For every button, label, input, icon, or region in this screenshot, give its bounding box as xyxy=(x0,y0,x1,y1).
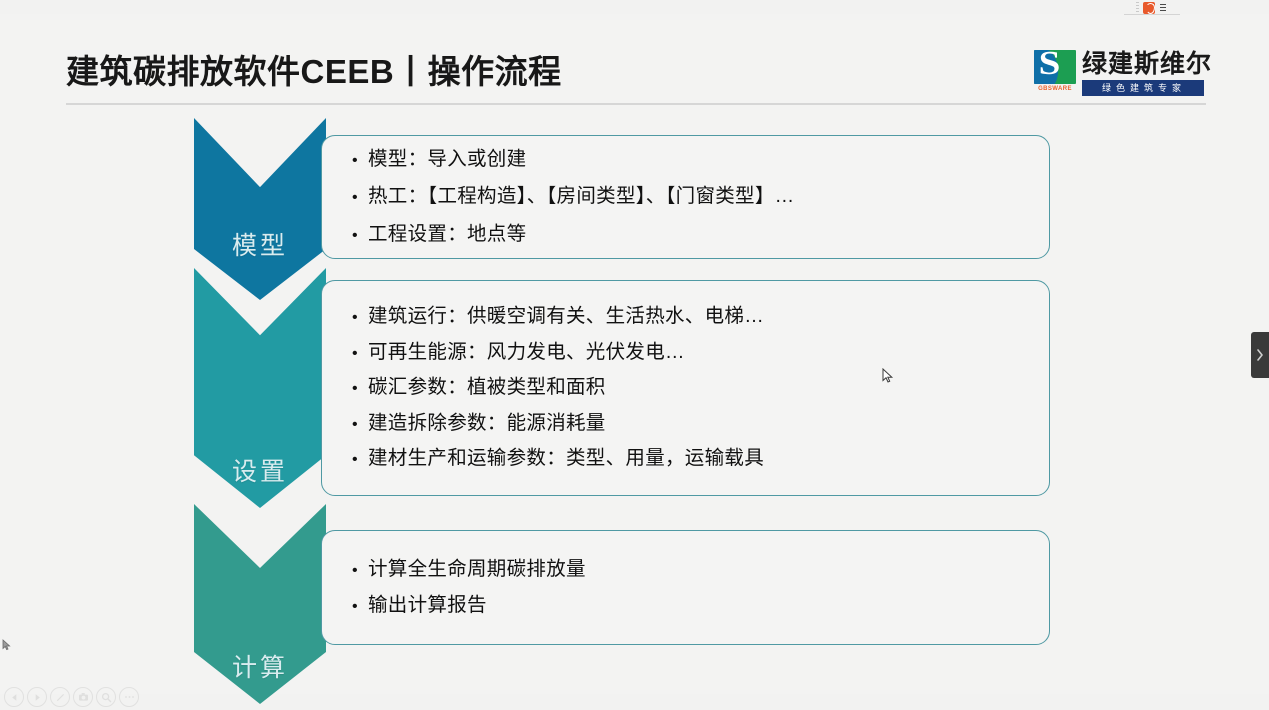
pen-annotate-button[interactable] xyxy=(50,687,70,707)
pen-icon xyxy=(55,692,66,703)
bullet-icon: • xyxy=(352,228,368,244)
secondary-pointer-artifact xyxy=(2,638,12,650)
bullet-icon: • xyxy=(352,381,368,397)
play-button[interactable] xyxy=(27,687,47,707)
flow-step-panel-model: • 模型：导入或创建 • 热工：【工程构造】、【房间类型】、【门窗类型】… • … xyxy=(321,135,1050,259)
triangle-right-icon xyxy=(33,693,42,702)
flow-step-panel-settings: • 建筑运行：供暖空调有关、生活热水、电梯… • 可再生能源：风力发电、光伏发电… xyxy=(321,280,1050,496)
zoom-button[interactable] xyxy=(96,687,116,707)
bullet-icon: • xyxy=(352,599,368,615)
presentation-window: 建筑碳排放软件CEEB丨操作流程 GBSWARE 绿建斯维尔 绿色建筑专家 模型 xyxy=(0,0,1269,710)
list-item-text: 建材生产和运输参数：类型、用量，运输载具 xyxy=(368,449,1023,469)
list-item: • 工程设置：地点等 xyxy=(352,225,1023,245)
list-item-text: 建筑运行：供暖空调有关、生活热水、电梯… xyxy=(368,307,1023,327)
list-item: • 计算全生命周期碳排放量 xyxy=(352,560,1023,580)
flow-step-chevron-calculate: 计算 xyxy=(194,504,326,704)
camera-button[interactable] xyxy=(73,687,93,707)
drag-grip-icon[interactable] xyxy=(1136,2,1139,13)
kebab-menu-icon[interactable] xyxy=(1159,2,1167,14)
bullet-icon: • xyxy=(352,563,368,579)
process-flow-diagram: 模型 • 模型：导入或创建 • 热工：【工程构造】、【房间类型】、【门窗类型】…… xyxy=(0,14,1269,694)
list-item-text: 工程设置：地点等 xyxy=(368,225,1023,245)
screen-recorder-icon[interactable] xyxy=(1143,2,1155,14)
slide-canvas: 建筑碳排放软件CEEB丨操作流程 GBSWARE 绿建斯维尔 绿色建筑专家 模型 xyxy=(0,14,1269,694)
flow-step-chevron-settings: 设置 xyxy=(194,268,326,508)
list-item-text: 碳汇参数：植被类型和面积 xyxy=(368,378,1023,398)
list-item: • 建造拆除参数：能源消耗量 xyxy=(352,414,1023,434)
list-item: • 热工：【工程构造】、【房间类型】、【门窗类型】… xyxy=(352,187,1023,207)
bullet-icon: • xyxy=(352,310,368,326)
bullet-icon: • xyxy=(352,417,368,433)
slideshow-toolbar[interactable] xyxy=(4,686,139,708)
list-item: • 模型：导入或创建 xyxy=(352,150,1023,170)
bullet-icon: • xyxy=(352,452,368,468)
more-options-button[interactable] xyxy=(119,687,139,707)
side-drawer-handle[interactable] xyxy=(1251,332,1269,378)
list-item: • 可再生能源：风力发电、光伏发电… xyxy=(352,343,1023,363)
list-item: • 输出计算报告 xyxy=(352,596,1023,616)
bullet-icon: • xyxy=(352,346,368,362)
list-item: • 建材生产和运输参数：类型、用量，运输载具 xyxy=(352,449,1023,469)
list-item-text: 输出计算报告 xyxy=(368,596,1023,616)
list-item-text: 建造拆除参数：能源消耗量 xyxy=(368,414,1023,434)
flow-step-chevron-model: 模型 xyxy=(194,118,326,300)
list-item-text: 可再生能源：风力发电、光伏发电… xyxy=(368,343,1023,363)
flow-step-label-settings: 设置 xyxy=(232,452,288,488)
list-item-text: 热工：【工程构造】、【房间类型】、【门窗类型】… xyxy=(368,187,1023,207)
widget-underline xyxy=(1124,14,1180,15)
mouse-pointer xyxy=(882,368,894,384)
list-item: • 碳汇参数：植被类型和面积 xyxy=(352,378,1023,398)
triangle-left-icon xyxy=(10,693,19,702)
previous-slide-button[interactable] xyxy=(4,687,24,707)
flow-step-label-calculate: 计算 xyxy=(232,648,288,684)
floating-app-widget[interactable] xyxy=(1136,0,1182,15)
magnifier-icon xyxy=(101,692,112,703)
flow-step-label-model: 模型 xyxy=(232,226,288,280)
list-item-text: 计算全生命周期碳排放量 xyxy=(368,560,1023,580)
chevron-right-icon xyxy=(1256,349,1264,361)
list-item: • 建筑运行：供暖空调有关、生活热水、电梯… xyxy=(352,307,1023,327)
bullet-icon: • xyxy=(352,153,368,169)
ellipsis-icon xyxy=(124,695,135,699)
camera-icon xyxy=(78,692,89,702)
bullet-icon: • xyxy=(352,190,368,206)
list-item-text: 模型：导入或创建 xyxy=(368,150,1023,170)
flow-step-panel-calculate: • 计算全生命周期碳排放量 • 输出计算报告 xyxy=(321,530,1050,645)
